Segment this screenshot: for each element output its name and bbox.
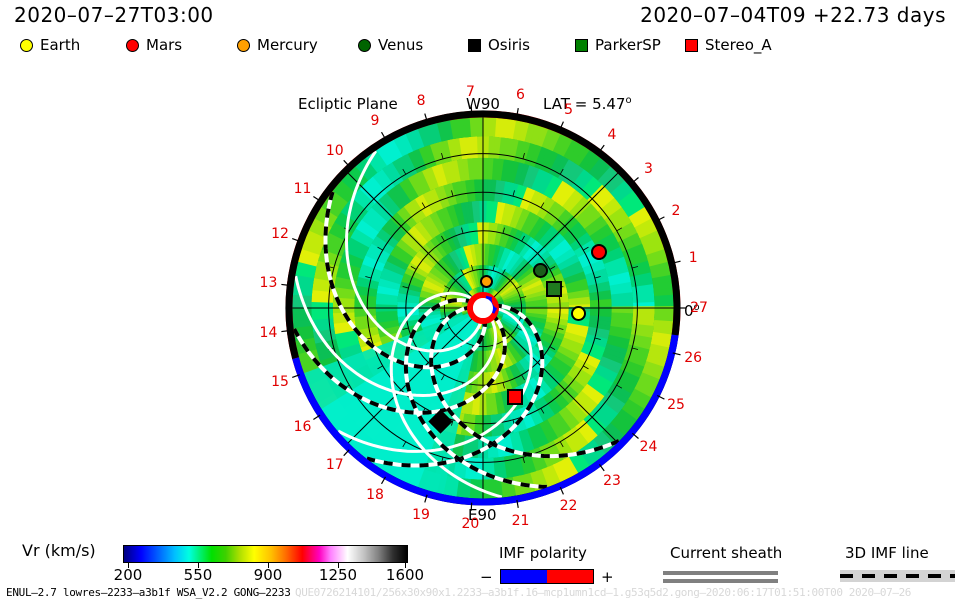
colorbar-tick-label: 200 [114,566,143,584]
solar-wind-visualization: 2020–07–27T03:00 2020–07–04T09 +22.73 da… [0,0,960,600]
body-marker-parkersp[interactable] [546,281,562,297]
hour-label-22: 22 [560,498,578,514]
legend-marker-parkersp-icon [575,39,588,52]
run-timestamp: 2020–07–04T09 +22.73 days [640,3,946,27]
sun-core [473,298,493,318]
hour-label-11: 11 [294,181,312,197]
hour-label-19: 19 [412,507,430,523]
body-marker-earth[interactable] [571,306,586,321]
imf-negative-sign: − [480,568,493,586]
current-timestamp: 2020–07–27T03:00 [14,3,214,27]
legend-item-earth: Earth [20,36,80,54]
speed-field-cell [654,306,676,315]
hour-label-5: 5 [564,102,573,118]
legend-marker-venus-icon [358,39,371,52]
hour-label-18: 18 [366,487,384,503]
colorbar-tick-label: 550 [184,566,213,584]
hour-label-9: 9 [371,113,380,129]
body-marker-mercury[interactable] [480,275,493,288]
legend-label: Stereo_A [705,36,772,54]
legend-item-stereo_a: Stereo_A [685,36,772,54]
legend-label: Venus [378,36,423,54]
velocity-colorbar [123,545,408,563]
hour-label-3: 3 [644,161,653,177]
hour-label-12: 12 [271,226,289,242]
legend-label: Mercury [257,36,318,54]
imf-positive-sign: + [601,568,614,586]
legend-label: Osiris [488,36,530,54]
hour-label-13: 13 [260,275,278,291]
model-run-code: ENUL–2.7 lowres–2233–a3b1f WSA_V2.2 GONG… [6,586,291,599]
body-marker-venus[interactable] [533,263,548,278]
colorbar-tick-label: 900 [254,566,283,584]
legend-item-mars: Mars [126,36,182,54]
hour-label-1: 1 [689,250,698,266]
hour-label-23: 23 [603,473,621,489]
colorbar-tick-label: 1600 [386,566,424,584]
imf-polarity-title: IMF polarity [499,544,587,562]
legend-marker-mercury-icon [237,39,250,52]
body-legend: EarthMarsMercuryVenusOsirisParkerSPStere… [10,36,950,60]
hour-label-20: 20 [462,516,480,532]
hour-label-2: 2 [672,203,681,219]
imf-polarity-bar [500,569,594,584]
heliosphere-disc [0,70,960,530]
hour-label-4: 4 [608,127,617,143]
run-watermark: QUE0726214101/256x30x90x1.2233–a3b1f.16–… [295,586,911,599]
current-sheath-line-lower [663,579,778,583]
legend-marker-mars-icon [126,39,139,52]
hour-tick [344,450,349,456]
hour-label-8: 8 [417,93,426,109]
hour-label-16: 16 [294,419,312,435]
colorbar-tick-label: 1250 [319,566,357,584]
imf-3d-line-title: 3D IMF line [845,544,929,562]
hour-label-14: 14 [260,325,278,341]
colorbar-axis-label: Vr (km/s) [22,541,96,560]
hour-label-15: 15 [271,374,289,390]
legend-item-venus: Venus [358,36,423,54]
ecliptic-plane-plot: Ecliptic Plane LAT = 5.47o W90 E90 0o 12… [0,70,960,530]
legend-marker-earth-icon [20,39,33,52]
current-sheath-line-upper [663,571,778,575]
hour-label-6: 6 [516,87,525,103]
hour-label-21: 21 [512,513,530,529]
legend-marker-osiris-icon [468,39,481,52]
body-marker-mars[interactable] [591,244,607,260]
speed-field-cell [612,306,634,313]
hour-label-24: 24 [640,439,658,455]
hour-label-10: 10 [326,143,344,159]
hour-label-26: 26 [684,350,702,366]
legend-label: ParkerSP [595,36,661,54]
legend-marker-stereo_a-icon [685,39,698,52]
hour-label-25: 25 [667,397,685,413]
hour-label-17: 17 [326,457,344,473]
legend-label: Mars [146,36,182,54]
speed-field-cell [633,306,655,314]
legend-label: Earth [40,36,80,54]
body-marker-stereo_a[interactable] [507,389,523,405]
current-sheath-title: Current sheath [670,544,782,562]
hour-label-7: 7 [466,84,475,100]
imf-3d-line-swatch-dash [840,574,955,578]
hour-label-27: 27 [690,300,708,316]
legend-item-parkersp: ParkerSP [575,36,661,54]
legend-item-mercury: Mercury [237,36,318,54]
legend-item-osiris: Osiris [468,36,530,54]
